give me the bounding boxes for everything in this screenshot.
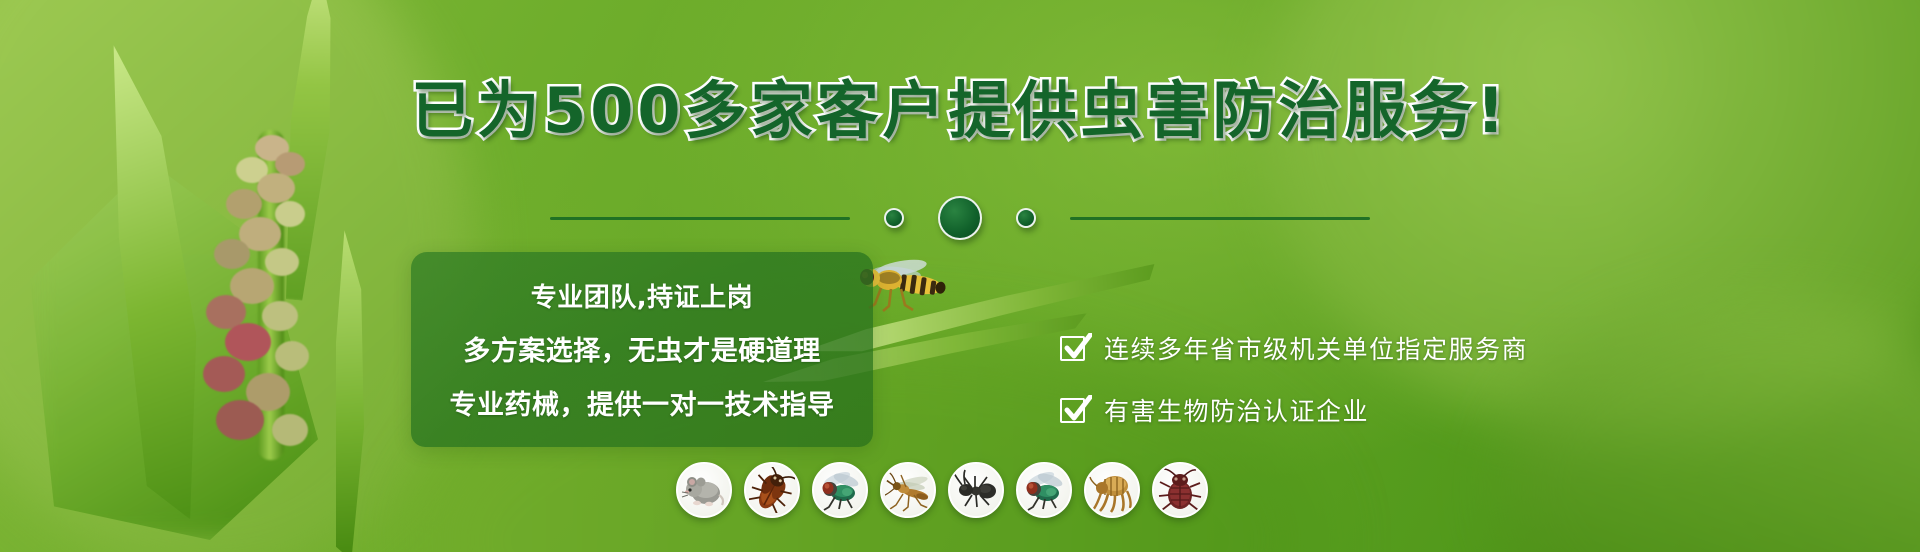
divider-rule-left — [550, 217, 850, 220]
headline-text: 已为500多家客户提供虫害防治服务! — [411, 74, 1509, 147]
decorative-dot-small-right — [1016, 208, 1036, 228]
ant-icon[interactable] — [948, 462, 1004, 518]
panel-line-2: 多方案选择，无虫才是硬道理 — [463, 329, 821, 368]
background-foliage-far-right — [1500, 300, 1920, 552]
fly-icon[interactable] — [812, 462, 868, 518]
checklist-item-label: 连续多年省市级机关单位指定服务商 — [1104, 330, 1528, 366]
cockroach-icon[interactable] — [744, 462, 800, 518]
banner-headline: 已为500多家客户提供虫害防治服务! — [0, 74, 1920, 147]
checkbox-checked-icon — [1060, 395, 1090, 425]
divider-rule-right — [1070, 217, 1370, 220]
checklist-item: 连续多年省市级机关单位指定服务商 — [1060, 330, 1528, 366]
fly-icon[interactable] — [1016, 462, 1072, 518]
decorative-dot-large — [938, 196, 982, 240]
decorative-dot-small-left — [884, 208, 904, 228]
pest-icon-row — [676, 462, 1208, 518]
mosquito-icon[interactable] — [880, 462, 936, 518]
mouse-icon[interactable] — [676, 462, 732, 518]
checklist-item-label: 有害生物防治认证企业 — [1104, 392, 1369, 428]
plant-flower-spike — [140, 130, 430, 460]
checklist-item: 有害生物防治认证企业 — [1060, 392, 1528, 428]
checkbox-checked-icon — [1060, 333, 1090, 363]
credentials-checklist: 连续多年省市级机关单位指定服务商 有害生物防治认证企业 — [1060, 330, 1528, 428]
decorative-divider — [0, 196, 1920, 240]
panel-line-3: 专业药械，提供一对一技术指导 — [450, 383, 835, 422]
promo-banner: 已为500多家客户提供虫害防治服务! 专业团队,持证上岗 多方案选择，无虫才是硬… — [0, 0, 1920, 552]
panel-line-1: 专业团队,持证上岗 — [531, 277, 753, 314]
flea-icon[interactable] — [1084, 462, 1140, 518]
bedbug-icon[interactable] — [1152, 462, 1208, 518]
value-proposition-panel: 专业团队,持证上岗 多方案选择，无虫才是硬道理 专业药械，提供一对一技术指导 — [411, 252, 873, 447]
